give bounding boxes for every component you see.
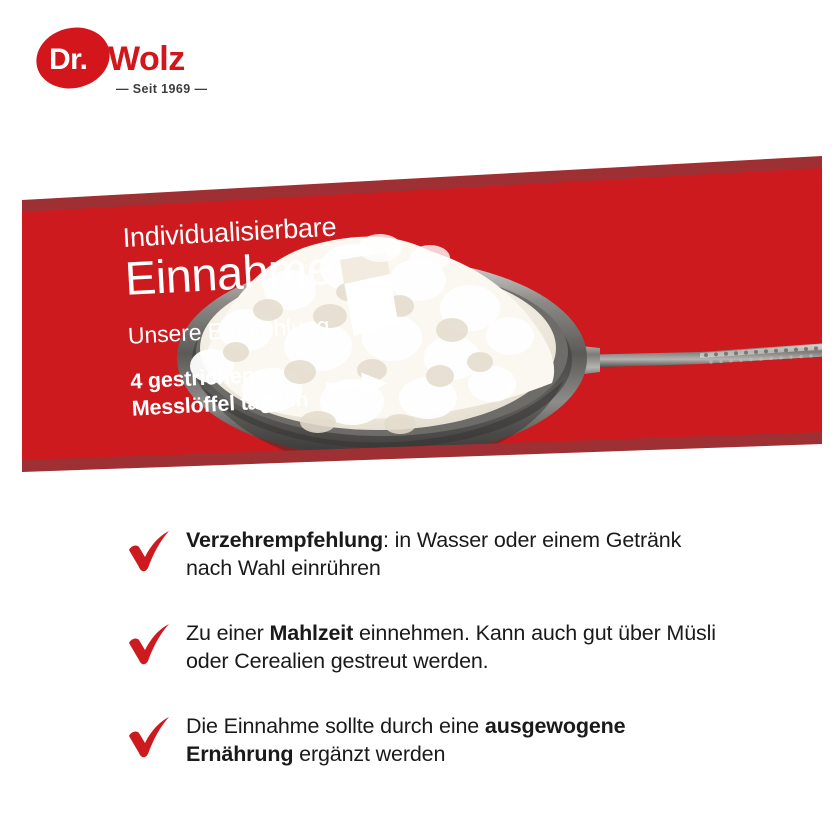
list-item: Verzehrempfehlung: in Wasser oder einem …: [126, 524, 726, 583]
list-item-pre: Die Einnahme sollte durch eine: [186, 714, 485, 738]
checkmark-icon: [126, 623, 172, 669]
list-item-text: Die Einnahme sollte durch eine ausgewoge…: [186, 710, 726, 769]
list-item-bold: Mahlzeit: [270, 621, 354, 645]
list-item: Zu einer Mahlzeit einnehmen. Kann auch g…: [126, 617, 726, 676]
logo-tagline: — Seit 1969 —: [116, 82, 207, 96]
list-item-pre: Zu einer: [186, 621, 270, 645]
banner-recommendation-label: Unsere Empfehlung: [127, 306, 458, 349]
list-item-post: ergänzt werden: [293, 742, 445, 766]
promo-banner: Individualisierbare Einnahme Unsere Empf…: [0, 140, 840, 490]
brand-logo: Dr. Wolz — Seit 1969 —: [34, 26, 214, 98]
banner-text-block: Individualisierbare Einnahme Unsere Empf…: [122, 206, 462, 421]
usage-checklist: Verzehrempfehlung: in Wasser oder einem …: [126, 524, 726, 802]
list-item: Die Einnahme sollte durch eine ausgewoge…: [126, 710, 726, 769]
arrow-right-icon: [325, 370, 388, 399]
list-item-lead: Verzehrempfehlung: [186, 528, 383, 552]
checkmark-icon: [126, 530, 172, 576]
list-item-text: Verzehrempfehlung: in Wasser oder einem …: [186, 524, 726, 583]
list-item-text: Zu einer Mahlzeit einnehmen. Kann auch g…: [186, 617, 726, 676]
logo-wolz-text: Wolz: [108, 42, 185, 76]
logo-dr-text: Dr.: [49, 45, 88, 75]
page-root: Dr. Wolz — Seit 1969 —: [0, 0, 840, 840]
checkmark-icon: [126, 716, 172, 762]
banner-dose-text: 4 gestrichene Messlöffel täglich: [130, 360, 309, 422]
